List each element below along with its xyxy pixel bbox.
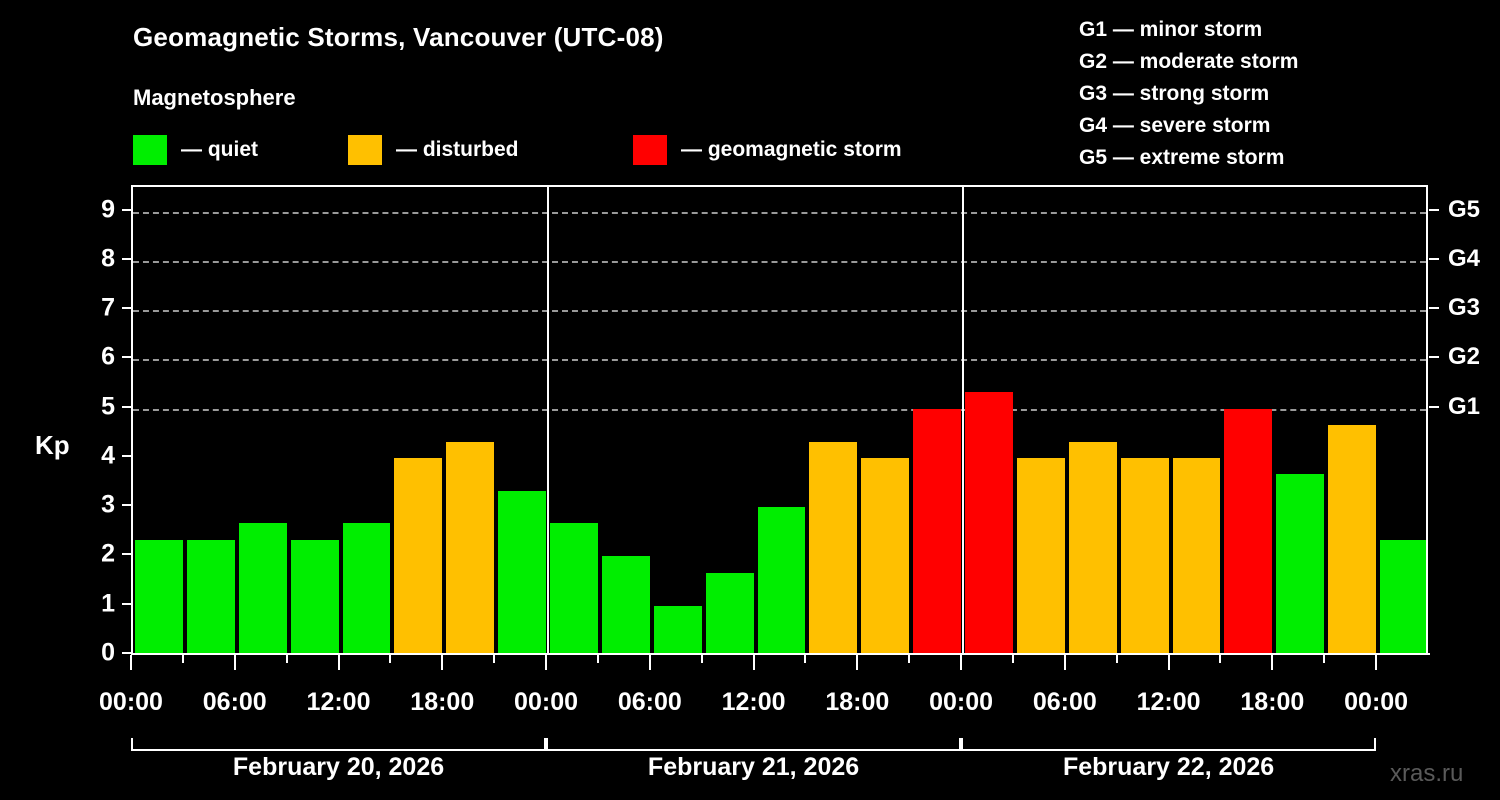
gridline-kp-8	[133, 261, 1426, 263]
g-tick-mark-G5	[1429, 209, 1439, 211]
bar-6[interactable]	[446, 442, 494, 655]
g-scale-line-g3: G3 — strong storm	[1079, 78, 1298, 110]
y-tick-mark-4	[122, 455, 131, 457]
x-tick-label-2: 12:00	[307, 688, 371, 717]
day-separator-2	[962, 187, 964, 655]
g-scale-line-g4: G4 — severe storm	[1079, 110, 1298, 142]
x-tick-label-3: 18:00	[410, 688, 474, 717]
y-tick-label-6: 6	[75, 343, 115, 372]
x-tick-label-7: 18:00	[825, 688, 889, 717]
bar-2[interactable]	[239, 523, 287, 655]
x-tick-label-8: 00:00	[929, 688, 993, 717]
x-tick-3	[286, 655, 288, 663]
bar-19[interactable]	[1121, 458, 1169, 655]
g-scale-line-g2: G2 — moderate storm	[1079, 46, 1298, 78]
date-label-0: February 20, 2026	[233, 753, 444, 782]
legend-item-disturbed[interactable]: — disturbed	[348, 134, 519, 166]
y-tick-label-4: 4	[75, 441, 115, 470]
y-tick-mark-5	[122, 406, 131, 408]
g-tick-label-G5: G5	[1448, 196, 1480, 224]
g-tick-label-G1: G1	[1448, 393, 1480, 421]
g-tick-mark-G4	[1429, 258, 1439, 260]
x-tick-label-1: 06:00	[203, 688, 267, 717]
gridline-kp-6	[133, 359, 1426, 361]
x-tick-19	[1116, 655, 1118, 663]
g-tick-mark-G3	[1429, 307, 1439, 309]
legend-item-quiet[interactable]: — quiet	[133, 134, 258, 166]
x-tick-20	[1168, 655, 1170, 670]
page-title: Geomagnetic Storms, Vancouver (UTC-08)	[133, 22, 664, 53]
y-tick-mark-2	[122, 553, 131, 555]
x-tick-label-10: 12:00	[1137, 688, 1201, 717]
y-tick-label-8: 8	[75, 244, 115, 273]
x-tick-9	[597, 655, 599, 663]
y-tick-mark-9	[122, 209, 131, 211]
bar-12[interactable]	[758, 507, 806, 655]
x-tick-6	[441, 655, 443, 670]
bar-5[interactable]	[394, 458, 442, 655]
y-tick-label-7: 7	[75, 294, 115, 323]
g-tick-label-G2: G2	[1448, 343, 1480, 371]
x-tick-0	[130, 655, 132, 670]
g-tick-label-G3: G3	[1448, 294, 1480, 322]
x-tick-label-5: 06:00	[618, 688, 682, 717]
date-bracket-0	[131, 738, 546, 751]
date-label-2: February 22, 2026	[1063, 753, 1274, 782]
gridline-kp-7	[133, 310, 1426, 312]
y-tick-label-9: 9	[75, 195, 115, 224]
watermark: xras.ru	[1390, 760, 1463, 788]
y-tick-mark-1	[122, 603, 131, 605]
bar-17[interactable]	[1017, 458, 1065, 655]
x-tick-15	[908, 655, 910, 663]
bar-20[interactable]	[1173, 458, 1221, 655]
x-tick-10	[649, 655, 651, 670]
bar-18[interactable]	[1069, 442, 1117, 655]
gridline-kp-9	[133, 212, 1426, 214]
magnetosphere-label: Magnetosphere	[133, 85, 296, 111]
y-tick-mark-3	[122, 504, 131, 506]
y-tick-mark-6	[122, 356, 131, 358]
x-tick-17	[1012, 655, 1014, 663]
bar-3[interactable]	[291, 540, 339, 655]
x-tick-7	[493, 655, 495, 663]
date-bracket-1	[546, 738, 961, 751]
bar-9[interactable]	[602, 556, 650, 655]
bar-14[interactable]	[861, 458, 909, 655]
x-tick-label-12: 00:00	[1344, 688, 1408, 717]
x-tick-18	[1064, 655, 1066, 670]
x-tick-4	[338, 655, 340, 670]
day-separator-1	[547, 187, 549, 655]
bar-22[interactable]	[1276, 474, 1324, 655]
bar-trailing[interactable]	[1380, 540, 1426, 655]
legend-swatch-disturbed	[348, 135, 382, 165]
legend-swatch-quiet	[133, 135, 167, 165]
legend-label-disturbed: — disturbed	[396, 138, 519, 162]
y-tick-label-2: 2	[75, 540, 115, 569]
y-axis-title: Kp	[35, 430, 70, 461]
x-tick-21	[1219, 655, 1221, 663]
geomagnetic-storm-chart: Geomagnetic Storms, Vancouver (UTC-08) M…	[0, 0, 1500, 800]
x-tick-24	[1375, 655, 1377, 670]
x-tick-22	[1271, 655, 1273, 670]
bar-15[interactable]	[913, 409, 961, 655]
x-tick-23	[1323, 655, 1325, 663]
x-tick-5	[389, 655, 391, 663]
x-tick-14	[856, 655, 858, 670]
date-label-1: February 21, 2026	[648, 753, 859, 782]
x-tick-16	[960, 655, 962, 670]
y-tick-label-5: 5	[75, 392, 115, 421]
y-tick-label-1: 1	[75, 589, 115, 618]
bar-1[interactable]	[187, 540, 235, 655]
g-tick-mark-G2	[1429, 356, 1439, 358]
bar-0[interactable]	[135, 540, 183, 655]
bar-10[interactable]	[654, 606, 702, 655]
x-tick-1	[182, 655, 184, 663]
x-tick-11	[701, 655, 703, 663]
x-tick-label-4: 00:00	[514, 688, 578, 717]
x-tick-label-11: 18:00	[1240, 688, 1304, 717]
y-tick-label-0: 0	[75, 639, 115, 668]
g-tick-label-G4: G4	[1448, 245, 1480, 273]
legend-label-geomagnetic-storm: — geomagnetic storm	[681, 138, 902, 162]
bar-16[interactable]	[965, 392, 1013, 655]
x-tick-label-6: 12:00	[722, 688, 786, 717]
y-tick-mark-8	[122, 258, 131, 260]
y-tick-mark-0	[122, 652, 131, 654]
x-axis-line	[131, 653, 1430, 655]
bar-4[interactable]	[343, 523, 391, 655]
g-scale-line-g1: G1 — minor storm	[1079, 14, 1298, 46]
date-bracket-2	[961, 738, 1376, 751]
y-tick-mark-7	[122, 307, 131, 309]
legend-item-geomagnetic-storm[interactable]: — geomagnetic storm	[633, 134, 902, 166]
x-tick-13	[804, 655, 806, 663]
x-tick-label-9: 06:00	[1033, 688, 1097, 717]
bar-21[interactable]	[1224, 409, 1272, 655]
x-tick-2	[234, 655, 236, 670]
g-tick-mark-G1	[1429, 406, 1439, 408]
plot-area	[131, 185, 1428, 655]
legend-label-quiet: — quiet	[181, 138, 258, 162]
bar-8[interactable]	[550, 523, 598, 655]
x-tick-label-0: 00:00	[99, 688, 163, 717]
bar-13[interactable]	[809, 442, 857, 655]
x-tick-12	[753, 655, 755, 670]
bar-23[interactable]	[1328, 425, 1376, 655]
legend-swatch-geomagnetic-storm	[633, 135, 667, 165]
bar-11[interactable]	[706, 573, 754, 655]
x-tick-8	[545, 655, 547, 670]
g-scale-line-g5: G5 — extreme storm	[1079, 142, 1298, 174]
y-tick-label-3: 3	[75, 491, 115, 520]
bar-7[interactable]	[498, 491, 546, 655]
g-scale-legend: G1 — minor stormG2 — moderate stormG3 — …	[1079, 14, 1298, 174]
